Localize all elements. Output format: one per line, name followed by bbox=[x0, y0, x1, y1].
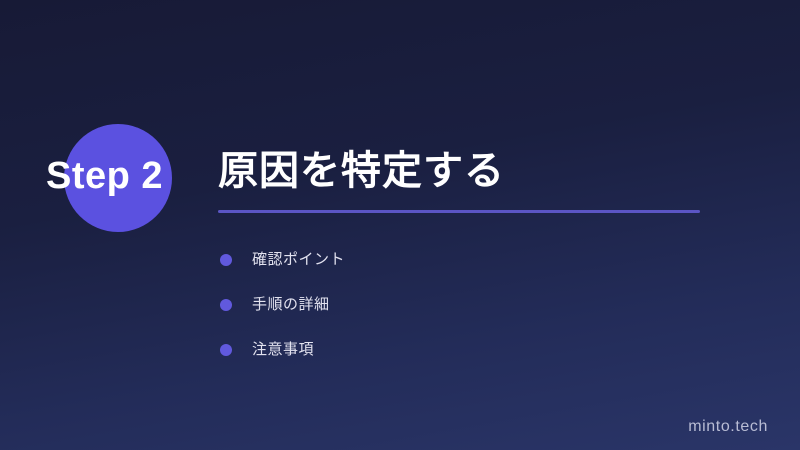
bullet-dot-icon bbox=[220, 254, 232, 266]
title-divider bbox=[218, 210, 700, 213]
bullet-list: 確認ポイント 手順の詳細 注意事項 bbox=[218, 237, 748, 372]
slide-canvas: Step 2 原因を特定する 確認ポイント 手順の詳細 注意事項 minto.t… bbox=[0, 0, 800, 450]
list-item-label: 手順の詳細 bbox=[252, 295, 330, 315]
step-badge-label: Step 2 bbox=[46, 152, 206, 200]
list-item-label: 確認ポイント bbox=[252, 250, 345, 270]
page-title: 原因を特定する bbox=[218, 146, 748, 196]
bullet-dot-icon bbox=[220, 344, 232, 356]
list-item: 注意事項 bbox=[218, 327, 748, 372]
list-item-label: 注意事項 bbox=[252, 340, 314, 360]
footer-brand-label: minto.tech bbox=[688, 418, 768, 436]
bullet-dot-icon bbox=[220, 299, 232, 311]
slide-content: 原因を特定する 確認ポイント 手順の詳細 注意事項 bbox=[218, 146, 748, 372]
list-item: 手順の詳細 bbox=[218, 282, 748, 327]
list-item: 確認ポイント bbox=[218, 237, 748, 282]
